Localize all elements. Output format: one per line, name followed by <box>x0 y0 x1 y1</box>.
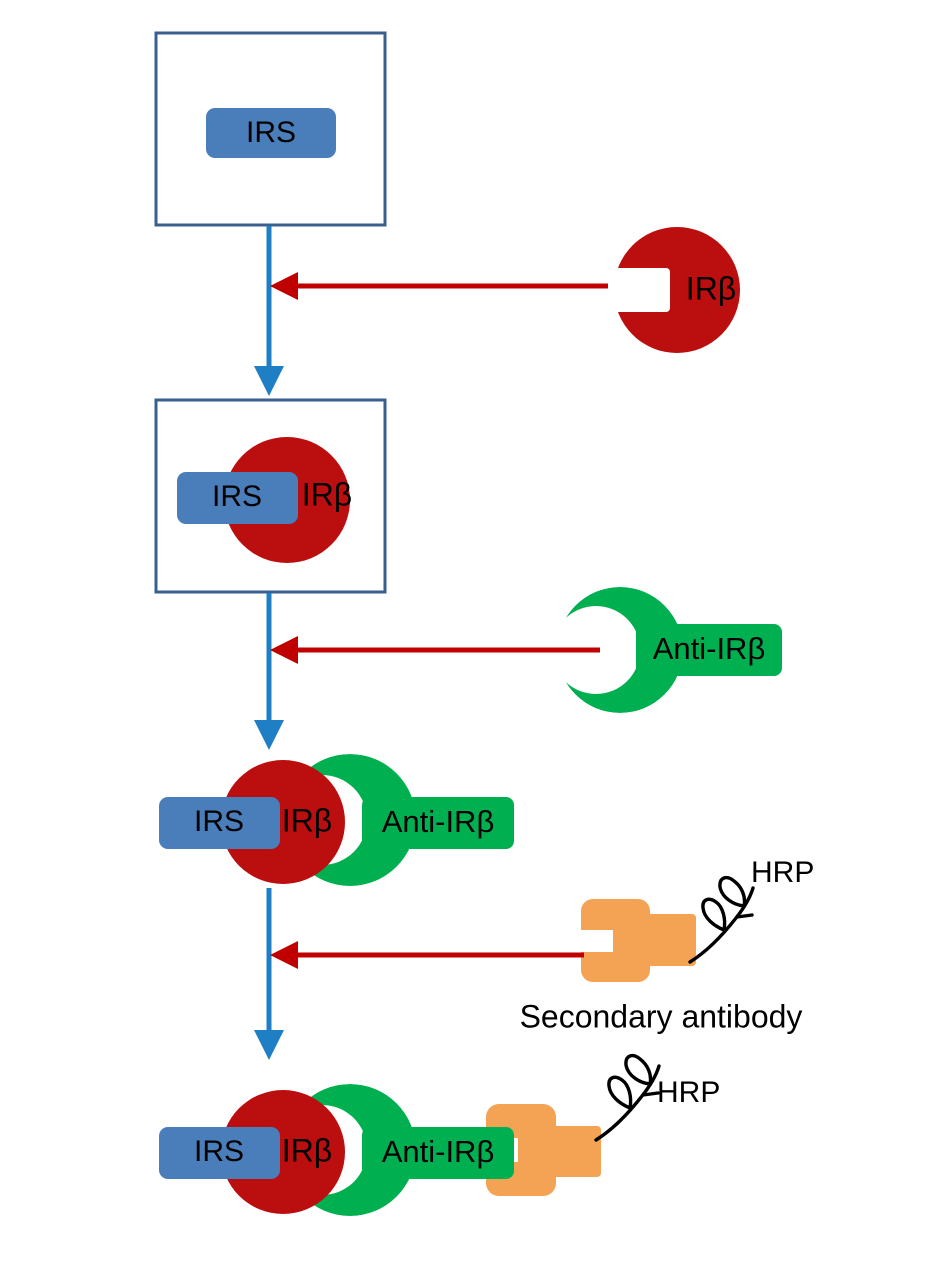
hrp-label-reagent: HRP <box>751 856 814 889</box>
secondary-antibody-tag-4 <box>551 1126 601 1177</box>
hrp-sprig-4 <box>596 1056 659 1140</box>
arrow-step2-to-step3 <box>254 593 284 750</box>
irb-label-3: IRβ <box>282 802 332 838</box>
arrow-step1-to-step2 <box>254 226 284 396</box>
arrow-add-anti-irb <box>270 636 600 664</box>
step-3-group: IRβ Anti-IRβ IRS <box>159 754 514 886</box>
reagent-secondary-antibody-group: HRP Secondary antibody <box>520 856 815 1035</box>
step-2-group: IRβ IRS <box>156 400 385 592</box>
irs-molecule-2: IRS <box>177 472 298 524</box>
secondary-antibody-body <box>581 899 650 982</box>
irs-label: IRS <box>246 116 296 149</box>
secondary-antibody-label: Secondary antibody <box>520 998 803 1034</box>
reagent-irb-group: IRβ <box>614 227 740 353</box>
elisa-schematic: IRS IRβ IRβ IRS Anti- <box>0 0 934 1272</box>
irs-label-2: IRS <box>212 480 262 513</box>
anti-irb-label-4: Anti-IRβ <box>382 1134 495 1169</box>
arrow-step3-to-step4 <box>254 888 284 1060</box>
irs-label-4: IRS <box>194 1135 244 1168</box>
secondary-antibody-tag <box>645 914 696 966</box>
hrp-label-4: HRP <box>657 1076 720 1109</box>
irs-molecule-4: IRS <box>159 1127 280 1179</box>
hrp-sprig <box>690 878 753 962</box>
step-4-group: IRβ Anti-IRβ IRS HRP <box>159 1056 720 1216</box>
irs-molecule-3: IRS <box>159 797 280 849</box>
irb-label-4: IRβ <box>282 1132 332 1168</box>
irs-molecule-1: IRS <box>206 108 336 158</box>
step-1-group: IRS <box>156 33 385 225</box>
anti-irb-reagent-label: Anti-IRβ <box>653 631 766 666</box>
irs-label-3: IRS <box>194 805 244 838</box>
irb-reagent-label: IRβ <box>686 270 736 306</box>
anti-irb-label-3: Anti-IRβ <box>382 804 495 839</box>
irb-label-2: IRβ <box>302 476 352 512</box>
arrow-add-secondary <box>270 941 584 969</box>
diagram-canvas: IRS IRβ IRβ IRS Anti- <box>0 0 934 1272</box>
arrow-add-irb <box>270 272 608 300</box>
